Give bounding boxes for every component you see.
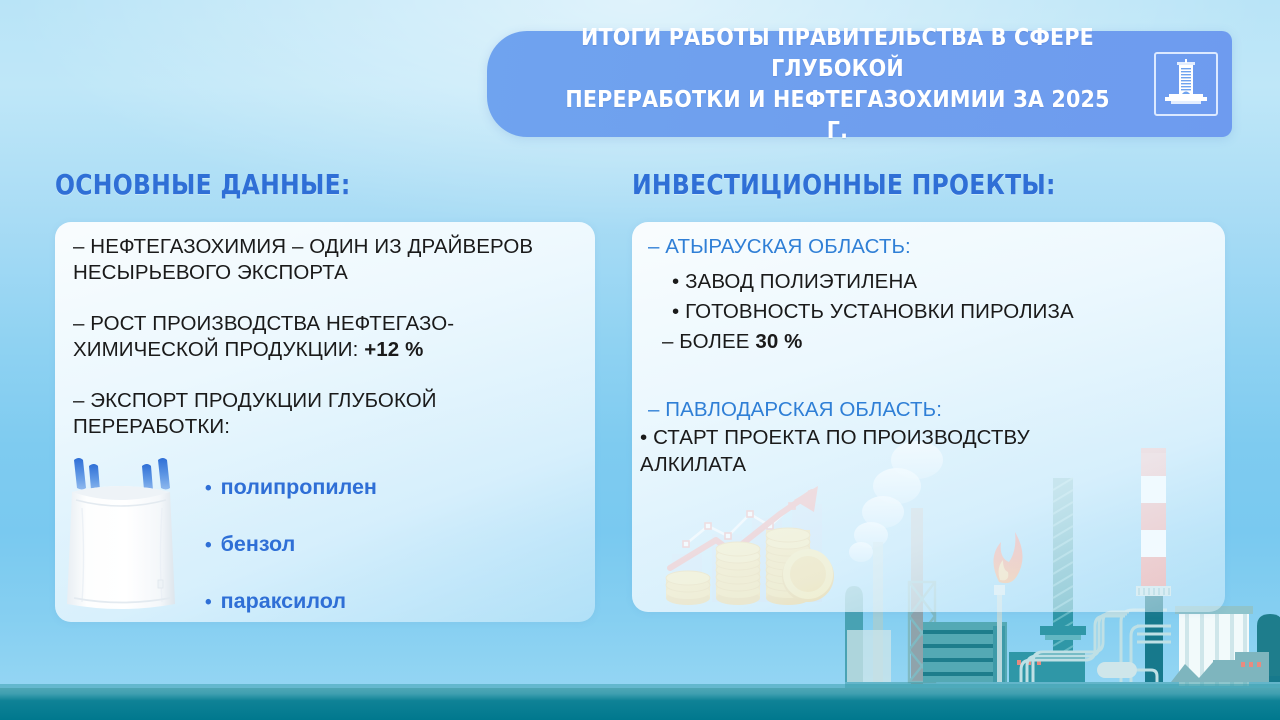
bullet-icon: • — [205, 479, 212, 498]
product-label: полипропилен — [221, 475, 377, 500]
region-pavlodar-label: – ПАВЛОДАРСКАЯ ОБЛАСТЬ: — [648, 397, 942, 423]
left-point-2: – РОСТ ПРОИЗВОДСТВА НЕФТЕГАЗО- ХИМИЧЕСКО… — [73, 311, 573, 363]
region-atyrau-item-1: • ЗАВОД ПОЛИЭТИЛЕНА — [672, 268, 917, 295]
list-item: • параксилол — [205, 589, 377, 614]
ground-strip — [0, 688, 1280, 720]
export-products-list: • полипропилен • бензол • параксилол — [205, 475, 377, 646]
left-point-3: – ЭКСПОРТ ПРОДУКЦИИ ГЛУБОКОЙ ПЕРЕРАБОТКИ… — [73, 388, 573, 440]
readiness-value: 30 % — [755, 330, 802, 353]
bulk-bag-icon — [58, 452, 184, 614]
region-atyrau-label: – АТЫРАУСКАЯ ОБЛАСТЬ: — [648, 234, 911, 260]
product-label: бензол — [221, 532, 296, 557]
readiness-prefix: – БОЛЕЕ — [662, 330, 755, 353]
growth-value: +12 % — [364, 338, 423, 361]
page-title: ИТОГИ РАБОТЫ ПРАВИТЕЛЬСТВА В СФЕРЕ ГЛУБО… — [564, 22, 1110, 146]
product-label: параксилол — [221, 589, 346, 614]
list-item: • бензол — [205, 532, 377, 557]
left-point-1: – НЕФТЕГАЗОХИМИЯ – ОДИН ИЗ ДРАЙВЕРОВ НЕС… — [73, 234, 573, 286]
bullet-icon: • — [205, 593, 212, 612]
region-atyrau-item-2: • ГОТОВНОСТЬ УСТАНОВКИ ПИРОЛИЗА — [672, 298, 1074, 325]
left-column-heading: ОСНОВНЫЕ ДАННЫЕ: — [55, 168, 351, 201]
government-building-icon — [1154, 52, 1218, 116]
infographic-canvas: ИТОГИ РАБОТЫ ПРАВИТЕЛЬСТВА В СФЕРЕ ГЛУБО… — [0, 0, 1280, 720]
title-banner: ИТОГИ РАБОТЫ ПРАВИТЕЛЬСТВА В СФЕРЕ ГЛУБО… — [487, 31, 1232, 137]
right-column-heading: ИНВЕСТИЦИОННЫЕ ПРОЕКТЫ: — [632, 168, 1056, 201]
left-point-2-line2: ХИМИЧЕСКОЙ ПРОДУКЦИИ: — [73, 338, 364, 361]
region-atyrau-readiness: – БОЛЕЕ 30 % — [662, 328, 802, 355]
region-pavlodar-item-1: • СТАРТ ПРОЕКТА ПО ПРОИЗВОДСТВУ АЛКИЛАТА — [640, 424, 1070, 478]
list-item: • полипропилен — [205, 475, 377, 500]
bullet-icon: • — [205, 536, 212, 555]
left-point-2-line1: – РОСТ ПРОИЗВОДСТВА НЕФТЕГАЗО- — [73, 312, 454, 335]
